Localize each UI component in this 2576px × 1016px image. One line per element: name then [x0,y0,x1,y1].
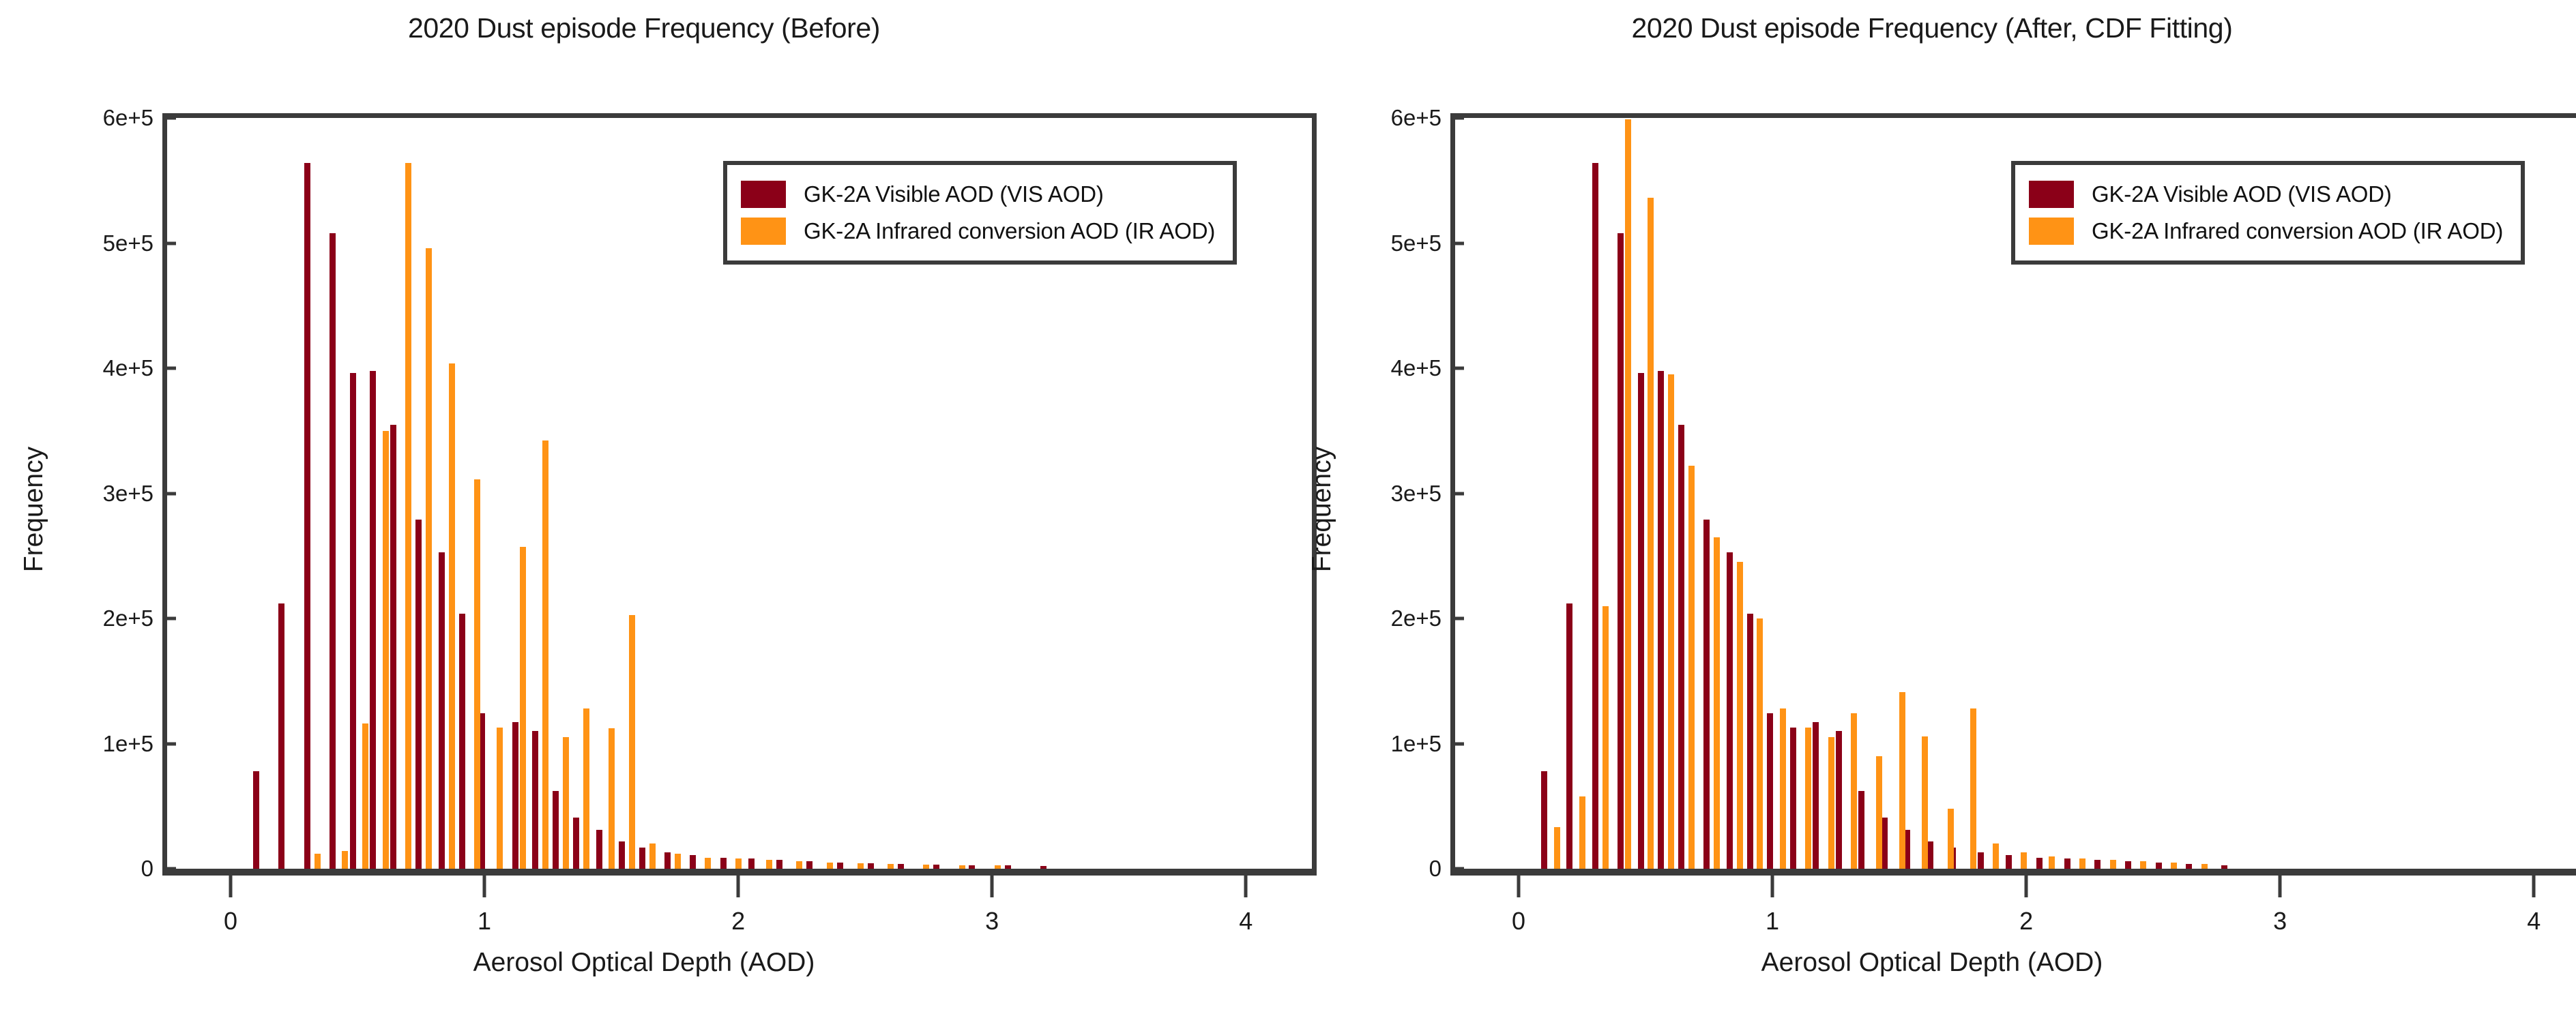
histogram-bar-vis [439,552,445,869]
x-axis-tick-label: 1 [478,907,491,936]
y-axis-tick-label: 1e+5 [103,731,153,757]
histogram-bar-ir [314,854,321,869]
histogram-bar-ir [1714,537,1720,869]
histogram-bar-vis [720,858,727,869]
histogram-bar-vis [2006,855,2012,869]
y-axis-tick-label: 3e+5 [1391,481,1441,507]
histogram-bar-ir [1648,198,1654,869]
histogram-bar-ir [995,865,1001,869]
y-axis-tick-labels-left: 01e+52e+53e+54e+55e+56e+5 [41,0,153,1016]
histogram-bar-ir [1899,692,1905,869]
x-axis-tick-label: 2 [2019,907,2033,936]
histogram-bar-ir [888,864,894,869]
histogram-bar-vis [837,863,843,869]
y-axis-tick-mark [1450,617,1464,621]
histogram-bar-vis [2156,863,2162,869]
histogram-bar-ir [1668,374,1674,869]
histogram-bar-vis [512,722,518,869]
histogram-bar-vis [1978,852,1984,869]
histogram-bar-ir [2049,856,2055,869]
histogram-bar-ir [2079,858,2085,869]
y-axis-tick-mark [162,492,176,495]
histogram-bar-vis [1858,791,1864,869]
histogram-bar-ir [563,737,569,869]
histogram-bar-vis [2221,865,2227,869]
histogram-bar-vis [459,614,465,869]
y-axis-tick-mark [1450,241,1464,245]
y-axis-tick-label: 6e+5 [103,105,153,131]
histogram-bar-ir [542,440,548,869]
histogram-bar-vis [573,818,579,869]
x-axis-tick-mark [737,876,740,897]
histogram-bar-ir [796,861,802,869]
x-axis-tick-label: 0 [1512,907,1525,936]
histogram-bar-ir [609,728,615,869]
x-axis-tick-mark [2532,876,2536,897]
histogram-bar-ir [923,865,929,869]
x-axis-tick-mark [2279,876,2282,897]
histogram-bar-vis [390,425,396,869]
panel-title-after: 2020 Dust episode Frequency (After, CDF … [1288,12,2576,44]
histogram-bar-vis [2125,861,2131,869]
histogram-bar-ir [583,708,589,869]
x-axis-tick-label: 3 [2273,907,2287,936]
histogram-bar-ir [629,615,635,869]
legend-item-vis: GK-2A Visible AOD (VIS AOD) [741,176,1215,213]
panel-before: 2020 Dust episode Frequency (Before) 01e… [0,0,1288,1016]
x-axis-title-right: Aerosol Optical Depth (AOD) [1288,948,2576,978]
histogram-bar-ir [1876,756,1882,869]
histogram-bar-vis [619,841,625,869]
histogram-bar-vis [776,860,782,869]
y-axis-tick-label: 3e+5 [103,481,153,507]
histogram-bar-vis [1836,731,1842,869]
histogram-bar-ir [1554,827,1560,869]
y-axis-title-right: Frequency [1307,305,1337,714]
histogram-bar-vis [898,864,904,869]
histogram-bar-ir [2021,852,2027,869]
legend-swatch-vis-icon [741,181,786,208]
histogram-bar-ir [1625,119,1631,869]
histogram-bar-ir [383,431,389,869]
y-axis-tick-mark [1450,492,1464,495]
y-axis-tick-label: 2e+5 [1391,606,1441,631]
y-axis-tick-mark [1450,117,1464,120]
x-axis-title-left: Aerosol Optical Depth (AOD) [0,948,1288,978]
y-axis-tick-mark [162,617,176,621]
histogram-bar-ir [405,163,411,869]
histogram-bar-ir [959,865,965,869]
histogram-bar-ir [1970,708,1976,869]
histogram-bar-vis [1813,722,1819,869]
x-axis-tick-label: 0 [224,907,237,936]
histogram-bar-ir [1780,708,1786,869]
histogram-bar-vis [2186,864,2192,869]
y-axis-tick-mark [162,867,176,871]
histogram-bar-ir [858,863,864,869]
dual-histogram-figure: 2020 Dust episode Frequency (Before) 01e… [0,0,2576,1016]
histogram-bar-vis [1727,552,1733,869]
histogram-bar-ir [1948,809,1954,869]
histogram-bar-vis [1767,713,1773,869]
y-axis-tick-labels-right: 01e+52e+53e+54e+55e+56e+5 [1329,0,1441,1016]
x-axis-tick-mark [2025,876,2028,897]
histogram-bar-ir [1828,737,1834,869]
histogram-bar-ir [1851,713,1857,869]
y-axis-tick-mark [162,742,176,745]
histogram-bar-ir [675,854,681,869]
x-axis-tick-label: 1 [1766,907,1779,936]
y-axis-tick-mark [1450,867,1464,871]
histogram-bar-ir [2201,864,2208,869]
histogram-bar-ir [449,363,455,869]
legend-label-vis: GK-2A Visible AOD (VIS AOD) [2092,181,2392,207]
y-axis-tick-label: 0 [1429,856,1441,882]
histogram-bar-vis [1541,771,1547,869]
legend-label-ir: GK-2A Infrared conversion AOD (IR AOD) [804,218,1215,244]
histogram-bar-vis [1592,163,1598,869]
histogram-bar-ir [362,723,368,869]
histogram-bar-ir [735,858,742,869]
histogram-bar-vis [1040,866,1046,869]
histogram-bar-vis [2094,860,2101,869]
y-axis-tick-mark [162,117,176,120]
histogram-bar-vis [868,863,874,869]
histogram-bar-ir [1688,466,1695,869]
histogram-bar-ir [342,851,348,869]
histogram-bar-ir [2171,863,2177,869]
legend-label-vis: GK-2A Visible AOD (VIS AOD) [804,181,1104,207]
histogram-bar-ir [520,547,526,869]
histogram-bar-vis [1618,233,1624,869]
histogram-bar-vis [933,865,939,869]
legend-label-ir: GK-2A Infrared conversion AOD (IR AOD) [2092,218,2503,244]
x-axis-tick-mark [1771,876,1774,897]
legend-right: GK-2A Visible AOD (VIS AOD) GK-2A Infrar… [2011,161,2525,265]
histogram-bar-vis [370,371,376,869]
histogram-bar-ir [705,858,711,869]
histogram-bar-vis [1703,520,1710,869]
legend-item-vis: GK-2A Visible AOD (VIS AOD) [2029,176,2503,213]
histogram-bar-ir [2140,861,2146,869]
histogram-bar-vis [553,791,559,869]
histogram-bar-vis [1747,614,1753,869]
histogram-bar-ir [426,248,432,869]
histogram-bar-ir [1602,606,1609,869]
histogram-bar-vis [2036,858,2043,869]
panel-after: 2020 Dust episode Frequency (After, CDF … [1288,0,2576,1016]
histogram-bar-ir [827,863,833,869]
y-axis-title-left: Frequency [19,305,49,714]
legend-swatch-ir-icon [2029,218,2074,245]
histogram-bar-vis [2064,858,2070,869]
histogram-bar-vis [806,861,813,869]
histogram-bar-vis [253,771,259,869]
histogram-bar-vis [350,373,356,869]
y-axis-tick-label: 1e+5 [1391,731,1441,757]
histogram-bar-ir [1579,796,1585,869]
histogram-bar-vis [1005,865,1011,869]
x-axis-tick-label: 2 [731,907,745,936]
x-axis-tick-label: 4 [1239,907,1253,936]
histogram-bar-ir [1757,618,1763,869]
y-axis-tick-label: 6e+5 [1391,105,1441,131]
histogram-bar-ir [1922,736,1928,869]
histogram-bar-vis [278,603,284,869]
histogram-bar-vis [969,865,975,869]
y-axis-tick-label: 4e+5 [103,355,153,381]
histogram-bar-vis [596,830,602,869]
histogram-bar-vis [1678,425,1684,869]
histogram-bar-vis [415,520,422,869]
x-axis-tick-mark [1517,876,1521,897]
x-axis-tick-label: 4 [2527,907,2541,936]
y-axis-tick-label: 5e+5 [103,230,153,256]
histogram-bar-vis [532,731,538,869]
histogram-bar-ir [766,860,772,869]
y-axis-tick-mark [1450,742,1464,745]
histogram-bar-ir [1737,562,1743,869]
histogram-bar-vis [690,855,696,869]
histogram-bar-vis [1658,371,1664,869]
x-axis-tick-mark [229,876,233,897]
histogram-bar-vis [330,233,336,869]
histogram-bar-vis [304,163,310,869]
panel-title-before: 2020 Dust episode Frequency (Before) [0,12,1288,44]
x-axis-tick-mark [483,876,486,897]
histogram-bar-ir [497,728,503,869]
y-axis-tick-mark [1450,367,1464,370]
x-axis-tick-label: 3 [985,907,999,936]
histogram-bar-ir [1805,728,1811,869]
histogram-bar-ir [649,843,656,869]
legend-swatch-ir-icon [741,218,786,245]
histogram-bar-vis [639,848,645,869]
histogram-bar-ir [474,479,480,869]
histogram-bar-vis [664,852,671,869]
histogram-bar-vis [748,858,755,869]
histogram-bar-ir [2110,860,2116,869]
y-axis-tick-mark [162,241,176,245]
histogram-bar-vis [1790,728,1796,869]
y-axis-tick-label: 4e+5 [1391,355,1441,381]
y-axis-tick-label: 2e+5 [103,606,153,631]
legend-left: GK-2A Visible AOD (VIS AOD) GK-2A Infrar… [723,161,1237,265]
legend-item-ir: GK-2A Infrared conversion AOD (IR AOD) [741,213,1215,250]
histogram-bar-vis [1566,603,1572,869]
y-axis-tick-label: 5e+5 [1391,230,1441,256]
y-axis-tick-label: 0 [141,856,153,882]
legend-item-ir: GK-2A Infrared conversion AOD (IR AOD) [2029,213,2503,250]
histogram-bar-vis [1638,373,1644,869]
histogram-bar-ir [1993,843,1999,869]
legend-swatch-vis-icon [2029,181,2074,208]
x-axis-tick-mark [991,876,994,897]
x-axis-tick-mark [1244,876,1248,897]
y-axis-tick-mark [162,367,176,370]
